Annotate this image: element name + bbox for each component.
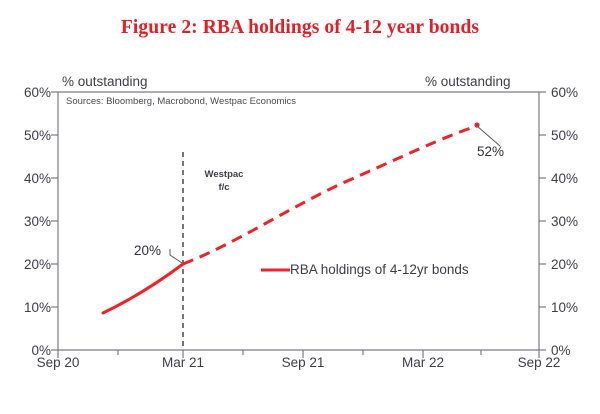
plot-area <box>0 0 600 414</box>
callout-leader-20 <box>170 249 182 263</box>
x-axis-ticks <box>58 350 539 358</box>
forecast-label-line2: f/c <box>218 182 229 193</box>
forecast-region-label: Westpac f/c <box>196 169 252 195</box>
forecast-label-line1: Westpac <box>205 169 244 180</box>
left-axis-ticks <box>51 92 58 350</box>
figure-container: Figure 2: RBA holdings of 4-12 year bond… <box>0 0 600 414</box>
callout-value-20: 20% <box>134 244 161 258</box>
series-line-actual <box>103 264 183 313</box>
callout-value-52: 52% <box>477 145 504 159</box>
series-line-forecast <box>183 126 477 264</box>
legend-item-label: RBA holdings of 4-12yr bonds <box>290 263 469 277</box>
right-axis-ticks <box>539 92 546 350</box>
callout-leader-52 <box>477 126 500 146</box>
forecast-endpoint-marker <box>474 122 479 127</box>
